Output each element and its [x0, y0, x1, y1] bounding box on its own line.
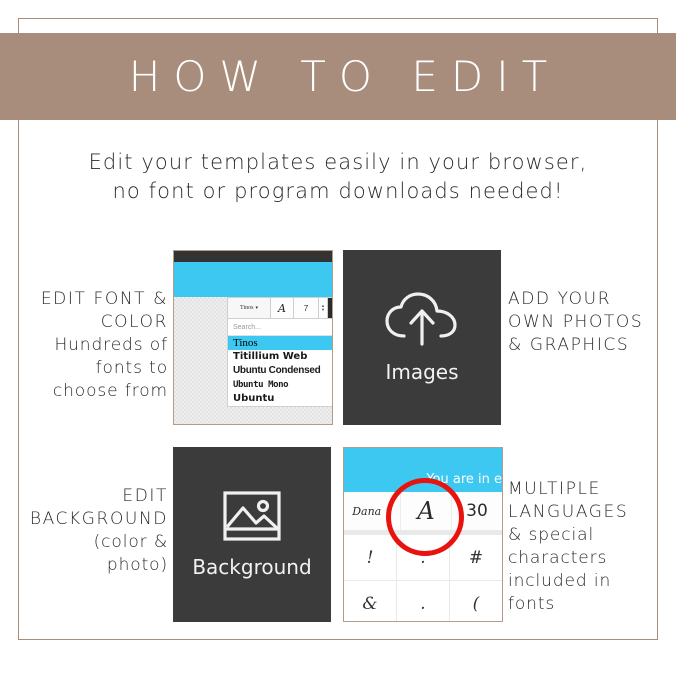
- background-tile-label: Background: [192, 555, 311, 579]
- caption-photos-head-3: & GRAPHICS: [508, 334, 668, 357]
- caption-background-body-1: (color &: [20, 531, 168, 554]
- chevron-down-icon: ▾: [255, 305, 258, 311]
- caption-languages-head-1: MULTIPLE: [508, 478, 670, 501]
- caption-languages-body-1: & special: [508, 524, 670, 547]
- caption-photos-head-1: ADD YOUR: [508, 288, 668, 311]
- character-cell[interactable]: (: [450, 581, 502, 622]
- stepper-down-icon: ▼: [321, 308, 325, 312]
- font-list-item-ubuntu-mono[interactable]: Ubuntu Mono: [228, 378, 333, 392]
- caption-font-color-head-1: EDIT FONT &: [20, 288, 168, 311]
- font-list-item-ubuntu-condensed[interactable]: Ubuntu Condensed: [228, 364, 333, 378]
- caption-font-color-body-1: Hundreds of: [20, 334, 168, 357]
- font-list-item-tinos[interactable]: Tinos: [228, 336, 333, 350]
- caption-edit-font-color: EDIT FONT & COLOR Hundreds of fonts to c…: [20, 288, 168, 403]
- chevron-down-icon: ▾: [386, 505, 392, 518]
- caption-background-body-2: photo): [20, 554, 168, 577]
- caption-font-color-body-3: choose from: [20, 380, 168, 403]
- char-font-value: Dana: [352, 505, 381, 518]
- char-editor-banner-text: You are in e: [426, 472, 502, 487]
- text-style-icon[interactable]: A: [271, 297, 294, 319]
- caption-languages-body-4: fonts: [508, 593, 670, 616]
- page-subtitle: Edit your templates easily in your brows…: [0, 148, 676, 206]
- font-search-input[interactable]: Search...: [228, 319, 333, 336]
- font-size-stepper[interactable]: ▲ ▼: [319, 297, 328, 319]
- subtitle-line-2: no font or program downloads needed!: [0, 177, 676, 206]
- char-editor-banner: You are in e: [344, 448, 502, 492]
- font-size-input[interactable]: 7: [294, 297, 319, 319]
- header-banner: HOW TO EDIT: [0, 33, 676, 120]
- caption-edit-background: EDIT BACKGROUND (color & photo): [20, 485, 168, 577]
- font-toolbar: Tinos ▾ A 7 ▲ ▼: [227, 297, 333, 320]
- color-swatch-button[interactable]: [328, 297, 333, 319]
- caption-background-head-2: BACKGROUND: [20, 508, 168, 531]
- caption-add-photos: ADD YOUR OWN PHOTOS & GRAPHICS: [508, 288, 668, 357]
- caption-languages-body-2: characters: [508, 547, 670, 570]
- script-glyph-preview[interactable]: A: [401, 492, 452, 530]
- character-cell[interactable]: #: [450, 535, 502, 580]
- char-editor-toolbar: Dana ▾ A 30: [344, 492, 502, 531]
- editor-canvas-area: Tinos ▾ A 7 ▲ ▼ Search... Tinos Titilliu…: [174, 297, 332, 424]
- caption-photos-head-2: OWN PHOTOS: [508, 311, 668, 334]
- images-tile-label: Images: [385, 360, 458, 384]
- cloud-upload-icon: [384, 292, 460, 346]
- character-cell[interactable]: .: [397, 535, 449, 580]
- character-cell[interactable]: .: [397, 581, 449, 622]
- font-list-dropdown: Search... Tinos Titillium Web Ubuntu Con…: [227, 319, 333, 407]
- font-editor-screenshot-panel: Tinos ▾ A 7 ▲ ▼ Search... Tinos Titilliu…: [173, 250, 333, 425]
- character-grid: ! . # & . (: [344, 531, 502, 622]
- character-cell[interactable]: !: [344, 535, 396, 580]
- font-list-item-ubuntu[interactable]: Ubuntu: [228, 392, 333, 406]
- char-font-dropdown[interactable]: Dana ▾: [344, 492, 401, 530]
- image-placeholder-icon: [223, 491, 281, 541]
- background-tool-panel[interactable]: Background: [173, 447, 331, 622]
- caption-multiple-languages: MULTIPLE LANGUAGES & special characters …: [508, 478, 670, 616]
- editor-canvas-banner: [174, 262, 332, 297]
- char-font-size-input[interactable]: 30: [452, 492, 502, 530]
- character-cell[interactable]: &: [344, 581, 396, 622]
- special-characters-screenshot-panel: You are in e Dana ▾ A 30 ! . # & . (: [343, 447, 503, 622]
- font-list: Tinos Titillium Web Ubuntu Condensed Ubu…: [228, 336, 333, 406]
- caption-background-head-1: EDIT: [20, 485, 168, 508]
- font-list-item-titillium-web[interactable]: Titillium Web: [228, 350, 333, 364]
- images-tool-panel[interactable]: Images: [343, 250, 501, 425]
- caption-languages-body-3: included in: [508, 570, 670, 593]
- font-family-value: Tinos: [240, 305, 253, 311]
- caption-font-color-body-2: fonts to: [20, 357, 168, 380]
- caption-languages-head-2: LANGUAGES: [508, 501, 670, 524]
- caption-font-color-head-2: COLOR: [20, 311, 168, 334]
- editor-title-bar: [174, 251, 332, 262]
- page-title: HOW TO EDIT: [116, 52, 561, 101]
- font-family-dropdown[interactable]: Tinos ▾: [227, 297, 271, 319]
- subtitle-line-1: Edit your templates easily in your brows…: [0, 148, 676, 177]
